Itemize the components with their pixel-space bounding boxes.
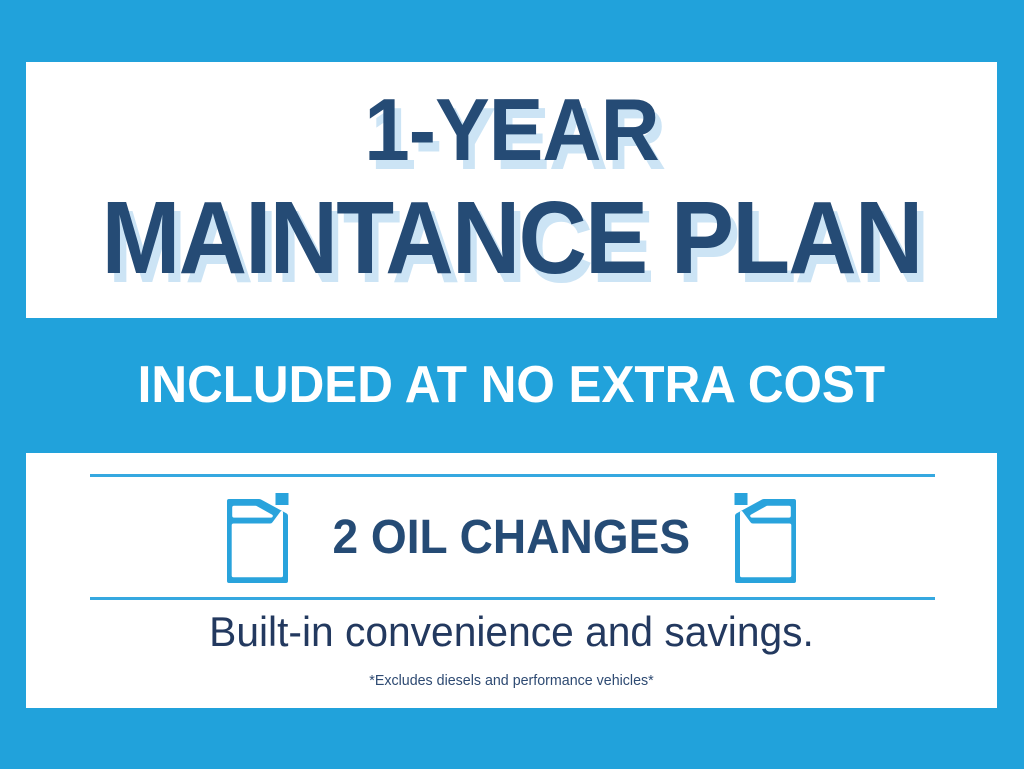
offer-row: 2 OIL CHANGES: [26, 481, 997, 594]
headline-stack: 1-YEAR MAINTANCE PLAN: [26, 62, 997, 318]
headline-panel: 1-YEAR MAINTANCE PLAN: [26, 62, 997, 318]
divider-rule-bottom: [90, 597, 935, 600]
subtitle-band: INCLUDED AT NO EXTRA COST: [26, 318, 997, 452]
subtitle-text: INCLUDED AT NO EXTRA COST: [138, 359, 885, 411]
detail-card: 2 OIL CHANGES Built-in convenience and s…: [26, 453, 997, 708]
offer-text: 2 OIL CHANGES: [333, 514, 691, 562]
tagline-text: Built-in convenience and savings.: [41, 611, 983, 653]
promo-poster: 1-YEAR MAINTANCE PLAN INCLUDED AT NO EXT…: [0, 0, 1024, 769]
oil-jug-icon: [225, 492, 291, 584]
oil-jug-icon: [732, 492, 798, 584]
fineprint-text: *Excludes diesels and performance vehicl…: [50, 673, 972, 688]
divider-rule-top: [90, 474, 935, 477]
headline-line-2: MAINTANCE PLAN: [65, 186, 958, 289]
headline-line-1: 1-YEAR: [60, 86, 963, 174]
